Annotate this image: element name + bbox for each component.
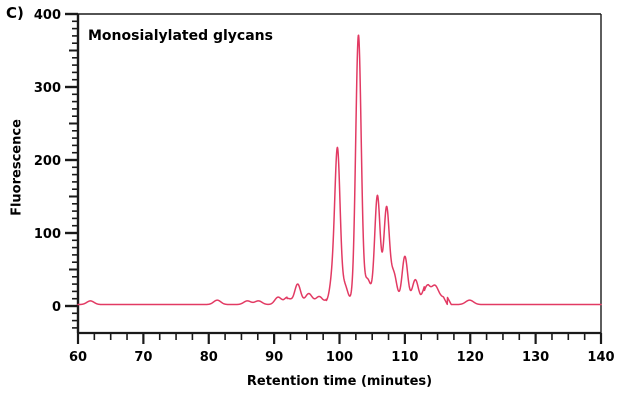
svg-text:110: 110 [391,350,418,365]
panel-label: C) [6,4,24,22]
svg-text:60: 60 [69,350,87,365]
chromatogram-trace [78,35,601,304]
tick-labels: 010020030040060708090100110120130140 [34,8,615,365]
svg-text:130: 130 [522,350,549,365]
svg-text:70: 70 [134,350,152,365]
tick-marks [65,14,601,344]
y-axis-label: Fluorescence [10,88,25,248]
svg-text:400: 400 [34,8,61,23]
svg-text:200: 200 [34,154,61,169]
svg-text:140: 140 [587,350,614,365]
chromatogram-figure: C) Monosialylated glycans Fluorescence R… [0,0,620,402]
svg-text:100: 100 [34,227,61,242]
plot-area: 010020030040060708090100110120130140 [0,0,620,402]
x-axis-label: Retention time (minutes) [78,374,601,389]
svg-text:100: 100 [326,350,353,365]
chart-title: Monosialylated glycans [88,28,273,44]
svg-text:0: 0 [52,300,61,315]
svg-text:120: 120 [457,350,484,365]
svg-text:300: 300 [34,81,61,96]
svg-text:90: 90 [265,350,283,365]
svg-text:80: 80 [200,350,218,365]
